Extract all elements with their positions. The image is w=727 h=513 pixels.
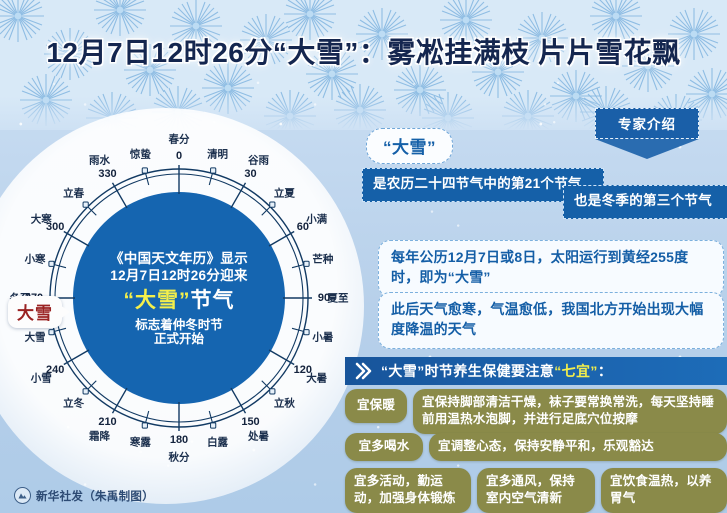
dial-term-label: 清明 <box>207 147 228 162</box>
credit-line: 新华社发（朱禹制图） <box>14 487 154 504</box>
tip-item: 宜多通风，保持室内空气清新 <box>477 468 595 513</box>
dial-term-label: 白露 <box>207 434 228 449</box>
dial-term-label: 谷雨 <box>248 153 269 168</box>
dial-term-label: 处暑 <box>248 428 269 443</box>
page-title: 12月7日12时26分“大雪”：雾凇挂满枝 片片雪花飘 <box>0 22 727 80</box>
health-tips-banner: “大雪”时节养生保健要注意“七宜”： <box>345 357 727 385</box>
tip-item: 宜多喝水 <box>345 433 423 461</box>
dial-term-label: 寒露 <box>130 434 151 449</box>
dial-term-label: 立春 <box>63 185 84 200</box>
solar-terms-dial: 《中国天文年历》显示 12月7日12时26分迎来 “大雪”节气 标志着仲冬时节 … <box>22 126 336 456</box>
dial-degree-label: 330 <box>98 168 116 180</box>
dial-term-label: 立冬 <box>63 396 84 411</box>
dial-term-label: 立夏 <box>274 185 295 200</box>
dial-term-label: 小暑 <box>312 329 333 344</box>
tip-item: 宜饮食温热，以养胃气 <box>601 468 727 513</box>
daxue-callout-bubble: 大雪 <box>8 296 62 328</box>
dial-degree-label: 60 <box>297 221 309 233</box>
banner-highlight: “七宜” <box>554 363 598 379</box>
dial-term-label: 秋分 <box>169 450 190 465</box>
dial-term-label: 芒种 <box>312 252 333 267</box>
dial-degree-label: 0 <box>176 150 182 162</box>
daxue-pill-label: “大雪” <box>383 138 436 157</box>
fact-box-weather: 此后天气愈寒，气温愈低，我国北方开始出现大幅度降温的天气 <box>378 292 724 349</box>
dial-term-label: 小寒 <box>25 252 46 267</box>
tip-item: 宜调整心态，保持安静平和，乐观豁达 <box>429 433 727 461</box>
dial-degree-label: 210 <box>98 416 116 428</box>
dial-term-label: 霜降 <box>89 428 110 443</box>
dial-term-label: 立秋 <box>274 396 295 411</box>
xinhua-logo-icon <box>14 487 31 504</box>
dial-term-label: 春分 <box>169 132 190 147</box>
dial-degree-label: 30 <box>244 168 256 180</box>
expert-intro-badge: 专家介绍 <box>595 108 699 159</box>
daxue-pill: “大雪” <box>366 128 453 164</box>
health-tips-list: 宜保暖 宜保持脚部清洁干燥，袜子要常换常洗，每天坚持睡前用温热水泡脚，并进行足底… <box>345 389 727 507</box>
dial-degree-label: 150 <box>241 416 259 428</box>
double-chevron-right-icon <box>355 362 373 380</box>
dial-degree-label: 180 <box>170 434 188 446</box>
dial-degree-label: 120 <box>294 364 312 376</box>
expert-intro-label: 专家介绍 <box>595 108 699 139</box>
expert-intro-ribbon-tail <box>595 139 699 159</box>
health-tips-banner-text: “大雪”时节养生保健要注意“七宜”： <box>381 361 612 381</box>
dial-term-label: 惊蛰 <box>130 147 151 162</box>
dial-term-label: 小满 <box>306 211 327 226</box>
credit-text: 新华社发（朱禹制图） <box>36 488 154 504</box>
dial-degree-label: 240 <box>46 364 64 376</box>
fact-box-date: 每年公历12月7日或8日，太阳运行到黄经255度时，即为“大雪” <box>378 240 724 297</box>
banner-pre: “大雪”时节养生保健要注意 <box>381 363 554 379</box>
daxue-callout-label: 大雪 <box>17 304 53 323</box>
dial-degree-label: 300 <box>46 221 64 233</box>
dial-term-label: 夏至 <box>328 291 349 306</box>
fact-box-season: 也是冬季的第三个节气 <box>563 185 727 219</box>
page-title-text: 12月7日12时26分“大雪”：雾凇挂满枝 片片雪花飘 <box>46 31 680 71</box>
dial-term-label: 雨水 <box>89 153 110 168</box>
dial-term-label: 大雪 <box>25 329 46 344</box>
dial-degree-label: 90 <box>318 292 330 304</box>
tip-item: 宜保持脚部清洁干燥，袜子要常换常洗，每天坚持睡前用温热水泡脚，并进行足底穴位按摩 <box>413 389 727 434</box>
banner-post: ： <box>598 363 612 379</box>
tip-item: 宜多活动，勤运动，加强身体锻炼 <box>345 468 471 513</box>
tip-item: 宜保暖 <box>345 389 407 423</box>
